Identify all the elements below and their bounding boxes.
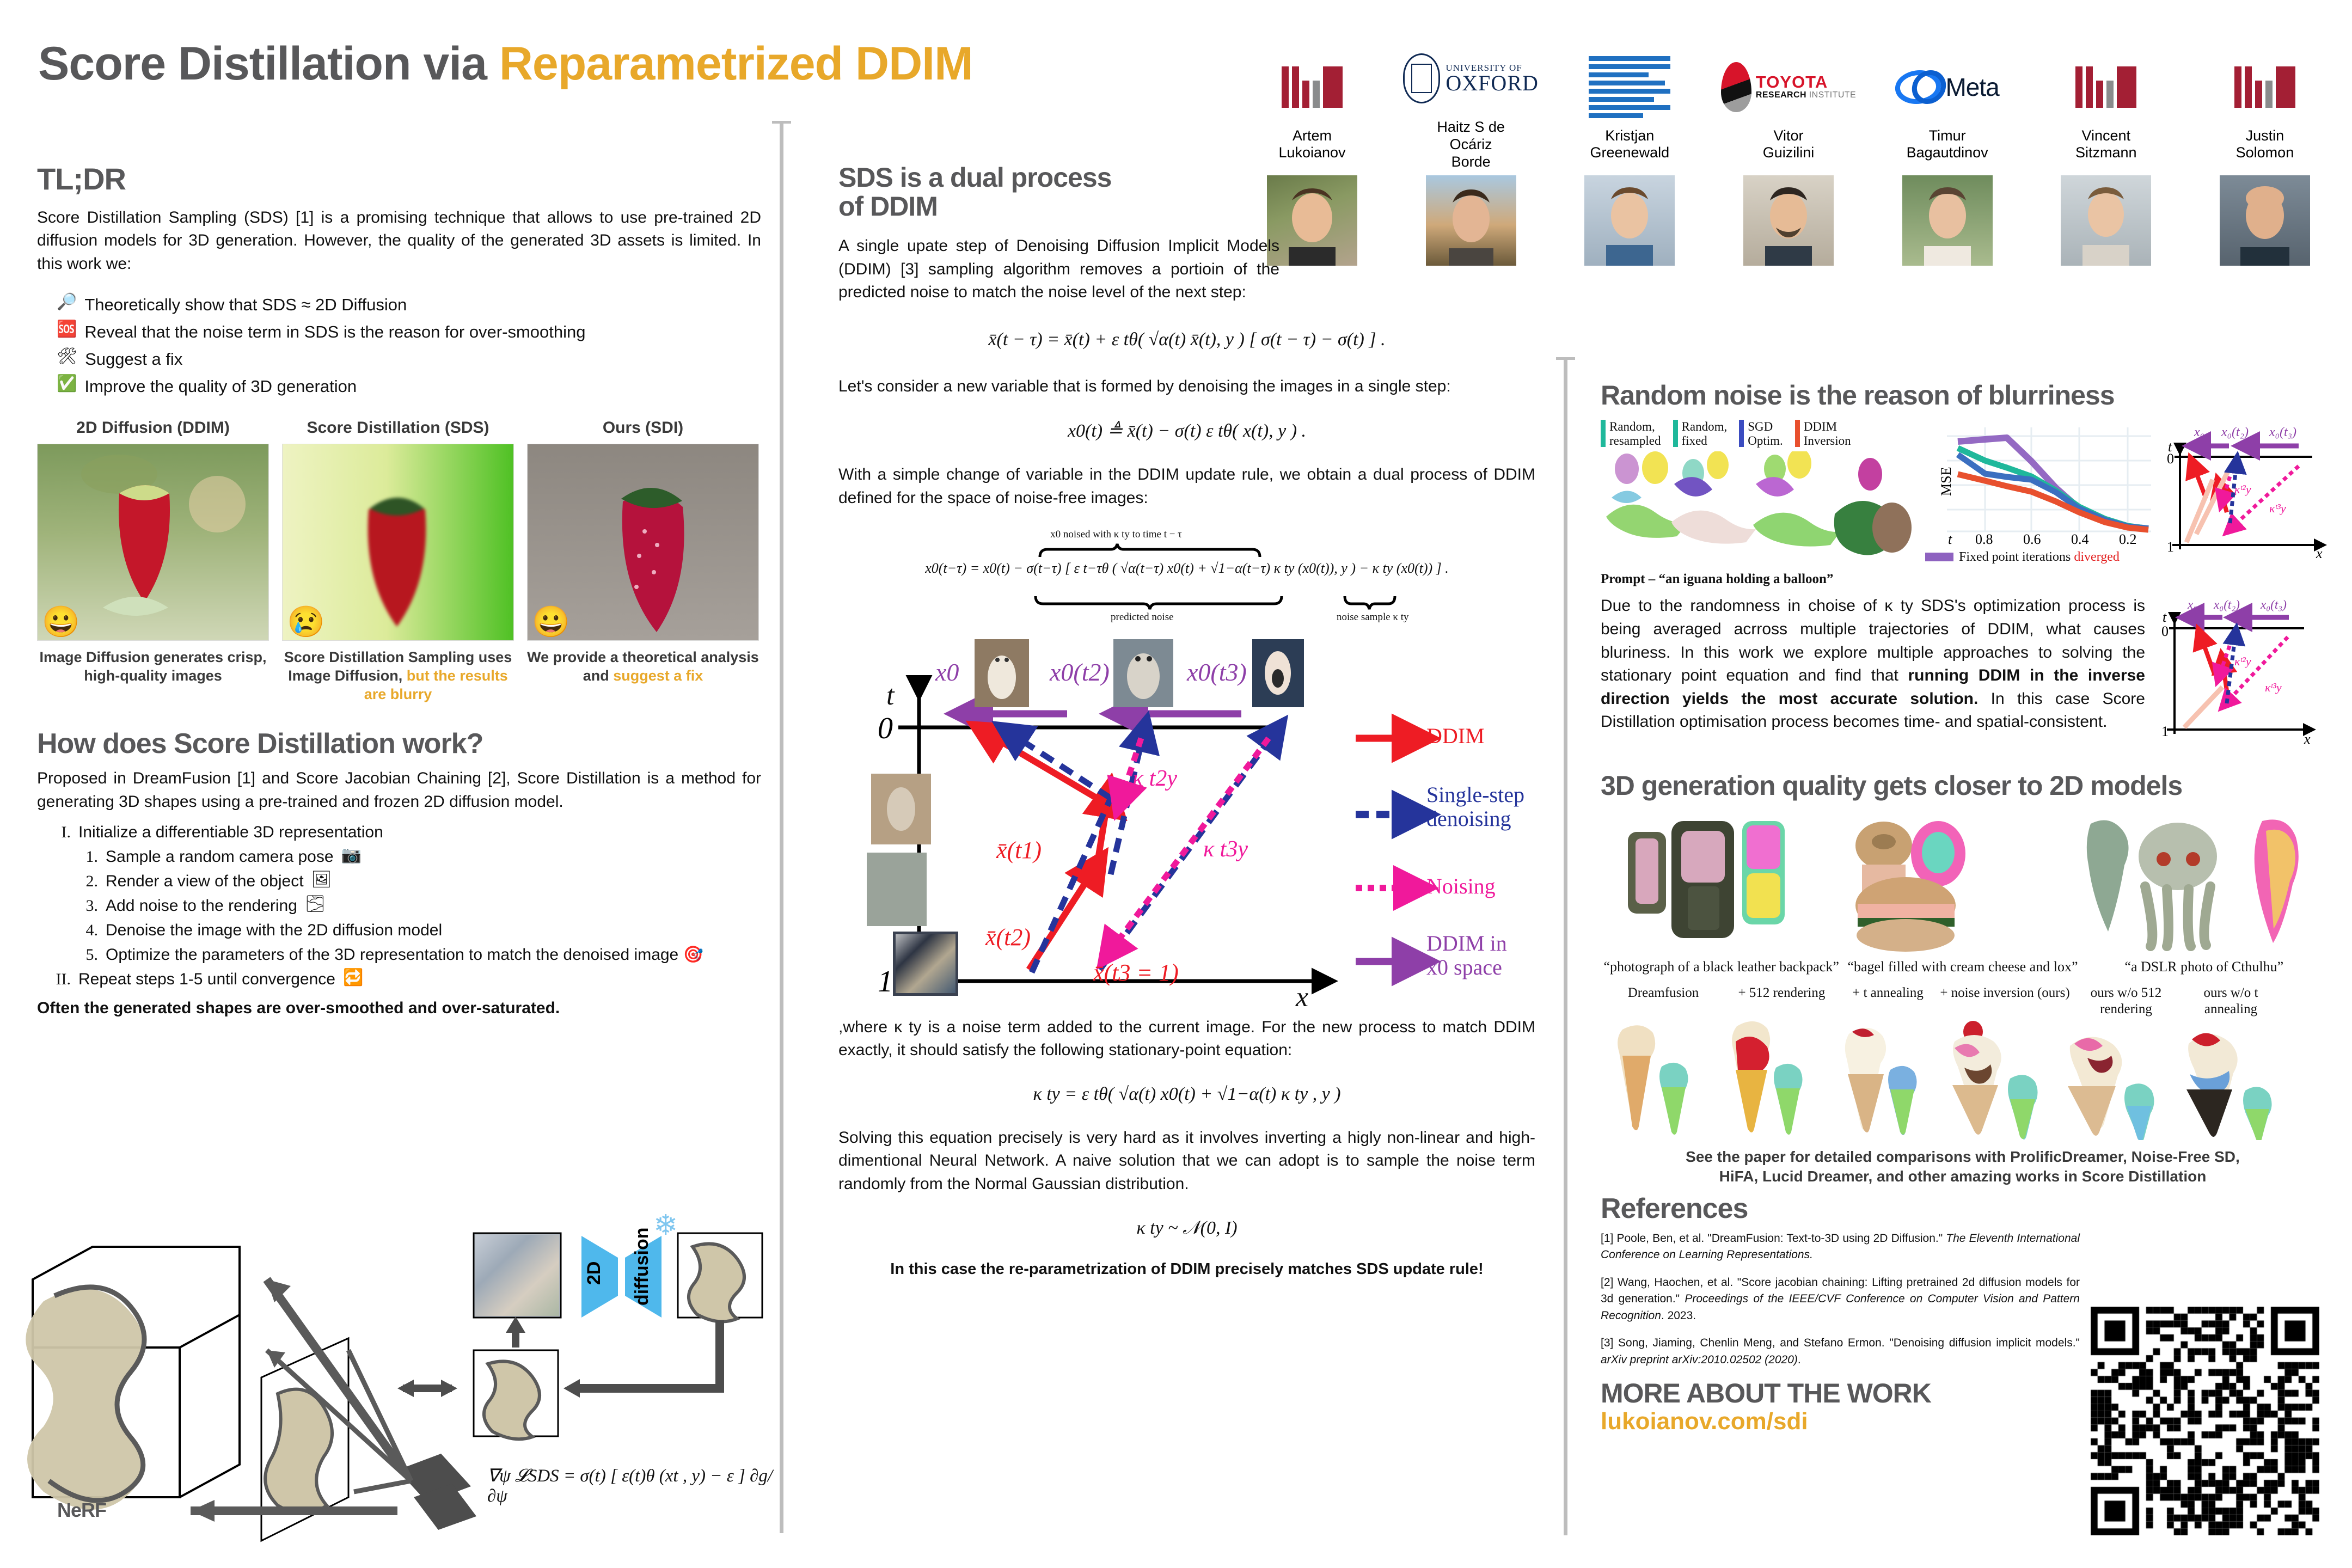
list-item: I.Initialize a differentiable 3D represe… <box>50 820 761 844</box>
nerf-diagram: 2D diffusion ❄ NeRF ∇ψ 𝓛SDS = σ(t) [ ε(t… <box>22 1214 773 1552</box>
picture-icon: 🖼 <box>311 869 332 893</box>
meta-infinity-icon <box>1894 70 1943 104</box>
oxford-logo: UNIVERSITY OF OXFORD <box>1403 49 1538 108</box>
list-item: 🛠Suggest a fix <box>37 346 761 373</box>
equation-stationary-point: κ ty = ε tθ( √α(t) x0(t) + √1−α(t) κ ty … <box>838 1084 1535 1105</box>
noise-heading: Random noise is the reason of blurriness <box>1601 381 2325 410</box>
svg-text:x₀: x₀ <box>2194 425 2204 439</box>
reference-item: [1] Poole, Ben, et al. "DreamFusion: Tex… <box>1601 1230 2080 1264</box>
svg-text:0.4: 0.4 <box>2071 531 2089 545</box>
tldr-paragraph: Score Distillation Sampling (SDS) [1] is… <box>37 206 761 276</box>
poster-canvas: Score Distillation via Reparametrized DD… <box>0 0 2352 1568</box>
equation-annotation-noise-sample: noise sample κ ty <box>1337 611 1409 623</box>
axis-label-x: x <box>1296 981 1308 1013</box>
author-cell-vitor-guizilini: TOYOTA RESEARCH INSTITUTE Vitor Guizilin… <box>1720 58 1857 266</box>
comparison-heading: 2D Diffusion (DDIM) <box>37 419 269 437</box>
mse-chart: MSE t 0.8 0.6 0.4 0.2 Fixed point iterat… <box>1925 420 2154 565</box>
legend-item: SGDOptim. <box>1739 420 1783 449</box>
list-item: 🔎Theoretically show that SDS ≈ 2D Diffus… <box>37 291 761 318</box>
mse-chart-legend: Fixed point iterations diverged <box>1925 550 2154 565</box>
comparison-figure: 2D Diffusion (DDIM) 😀 Image Diffusion ge… <box>37 419 761 703</box>
sds-gradient-equation: ∇ψ 𝓛SDS = σ(t) [ ε(t)θ (xt , y) − ε ] ∂g… <box>487 1465 773 1506</box>
iguana-prompt: Prompt – “an iguana holding a balloon” <box>1601 572 1916 587</box>
axis-label-t: t <box>886 679 894 712</box>
see-paper-note: See the paper for detailed comparisons w… <box>1601 1147 2325 1187</box>
svg-text:x₀: x₀ <box>2187 598 2197 611</box>
gen3d-caption: “photograph of a black leather backpack” <box>1601 958 1842 976</box>
mit-logo <box>1282 58 1343 117</box>
gen3d-caption: “bagel filled with cream cheese and lox” <box>1842 958 2083 976</box>
list-item: ✅Improve the quality of 3D generation <box>37 373 761 400</box>
svg-text:x₀(t₃): x₀(t₃) <box>2269 425 2296 439</box>
gen3d-caption: “a DSLR photo of Cthulhu” <box>2084 958 2325 976</box>
author-name: Justin Solomon <box>2236 127 2294 171</box>
repeat-icon: 🔁 <box>343 967 363 991</box>
equation-dual-process-block: x0 noised with κ ty to time t − τ x0(t−τ… <box>838 529 1535 629</box>
author-name: Vincent Sitzmann <box>2075 127 2137 171</box>
left-column: TL;DR Score Distillation Sampling (SDS) … <box>37 163 761 1018</box>
author-name: Timur Bagautdinov <box>1907 127 1988 171</box>
title-part-2: Reparametrized DDIM <box>499 38 973 90</box>
emoji-sad: 😢 <box>287 607 325 637</box>
how-steps-list: I.Initialize a differentiable 3D represe… <box>37 820 761 991</box>
equation-annotation-predicted-noise: predicted noise <box>1111 611 1174 623</box>
image-ours-sdi: 😀 <box>527 444 759 641</box>
gen3d-objects-image <box>1601 805 2325 952</box>
svg-text:1: 1 <box>878 965 893 999</box>
how-closing-note: Often the generated shapes are over-smoo… <box>37 999 761 1018</box>
ibm-logo <box>1589 58 1670 117</box>
noise-explanation-row: Due to the randomness in choise of κ ty … <box>1601 595 2325 750</box>
sds-paragraph-1: A single upate step of Denoising Diffusi… <box>838 235 1279 304</box>
svg-text:t: t <box>2163 609 2167 625</box>
svg-text:0.6: 0.6 <box>2023 531 2041 545</box>
ablation-headers: Dreamfusion + 512 rendering + t annealin… <box>1601 985 2325 1018</box>
list-item: 2.Render a view of the object🖼 <box>77 869 761 893</box>
block-2d-label: 2D <box>584 1261 604 1285</box>
mse-y-axis-label: MSE <box>1938 467 1954 495</box>
tldr-bullet-list: 🔎Theoretically show that SDS ≈ 2D Diffus… <box>37 291 761 401</box>
target-icon: 🎯 <box>683 946 703 964</box>
snowflake-icon: ❄ <box>653 1214 678 1241</box>
comparison-column-sds: Score Distillation (SDS) 😢 Score Distill… <box>282 419 514 703</box>
legend-item: Random,resampled <box>1601 420 1661 449</box>
svg-text:x₀(t₂): x₀(t₂) <box>2221 425 2249 439</box>
legend-item: DDIMInversion <box>1795 420 1851 449</box>
title-part-1: Score Distillation via <box>38 38 499 90</box>
list-item: 3.Add noise to the rendering🌫 <box>77 893 761 918</box>
equation-gaussian-sample: κ ty ~ 𝒩(0, I) <box>838 1218 1535 1239</box>
svg-text:x: x <box>2304 731 2311 747</box>
right-column: Random noise is the reason of blurriness… <box>1601 381 2325 1435</box>
page-title: Score Distillation via Reparametrized DD… <box>38 39 973 88</box>
image-2d-diffusion: 😀 <box>37 444 269 641</box>
equation-ddim-update: x̄(t − τ) = x̄(t) + ε tθ( √α(t) x̄(t), y… <box>838 329 1535 350</box>
svg-text:1: 1 <box>2161 724 2169 739</box>
legend-item: Random,fixed <box>1673 420 1728 449</box>
label-x0-t2: x0(t2) <box>1050 658 1110 687</box>
ablation-header: ours w/o 512 rendering <box>2072 985 2180 1018</box>
emoji-happy: 😀 <box>532 607 570 637</box>
label-xbar-t1: x̄(t1) <box>996 836 1042 864</box>
svg-text:x₀(t₃): x₀(t₃) <box>2260 598 2287 611</box>
legend-noising: Noising <box>1426 873 1496 899</box>
sds-paragraph-2: Let's consider a new variable that is fo… <box>838 375 1535 399</box>
mit-logo <box>2234 58 2295 117</box>
iguana-samples-image <box>1601 451 1916 566</box>
label-xbar-t2: x̄(t2) <box>985 923 1031 951</box>
list-item-label: Theoretically show that SDS ≈ 2D Diffusi… <box>84 291 407 318</box>
iguana-legend: Random,resampled Random,fixed SGDOptim. … <box>1601 420 1916 449</box>
svg-text:κᵗ²y: κᵗ²y <box>2234 654 2251 668</box>
how-heading: How does Score Distillation work? <box>37 729 761 759</box>
small-trajectory-diagram-bottom: t 0 1 x x₀ x₀(t₂) x₀(t₃) κᵗ²y κᵗ³y <box>2158 595 2322 750</box>
sds-paragraph-3: With a simple change of variable in the … <box>838 463 1535 510</box>
author-cell-timur-bagautdinov: Meta Timur Bagautdinov <box>1879 58 2016 266</box>
column-divider-left <box>780 123 783 1533</box>
avatar <box>1743 175 1834 266</box>
middle-column: SDS is a dual process of DDIM A single u… <box>838 163 1535 1278</box>
ablation-icecream-image <box>1601 1018 2325 1140</box>
qr-code[interactable] <box>2091 1307 2319 1535</box>
label-x0-t3: x0(t3) <box>1187 658 1247 687</box>
svg-text:t: t <box>1948 531 1952 545</box>
trajectory-diagram: 0 1 t x x0 x0(t2) x0(t3) x̄(t1) x̄(t2) x… <box>838 635 1535 1010</box>
mit-logo <box>2075 58 2136 117</box>
svg-text:x: x <box>2316 546 2323 561</box>
label-kappa-t3: κ t3y <box>1203 836 1248 862</box>
svg-text:κᵗ²y: κᵗ²y <box>2234 482 2251 496</box>
list-item-label: Reveal that the noise term in SDS is the… <box>84 318 585 346</box>
legend-ddim: DDIM <box>1426 723 1485 749</box>
camera-icon: 📷 <box>341 844 362 869</box>
sds-heading: SDS is a dual process of DDIM <box>838 163 1535 220</box>
label-x0: x0 <box>935 658 959 687</box>
ablation-header: + 512 rendering <box>1726 985 1837 1001</box>
ablation-header: + noise inversion (ours) <box>1938 985 2072 1001</box>
equation-x0-definition: x0(t) ≜ x̄(t) − σ(t) ε tθ( x(t), y ) . <box>838 420 1535 442</box>
comparison-caption: Image Diffusion generates crisp, high-qu… <box>37 648 269 685</box>
emoji-happy: 😀 <box>42 607 80 637</box>
label-xbar-t3: x̄(t3 = 1) <box>1093 959 1179 987</box>
sds-closing-note: In this case the re-parametrization of D… <box>838 1260 1535 1278</box>
comparison-heading: Score Distillation (SDS) <box>282 419 514 437</box>
meta-logo: Meta <box>1895 58 1999 117</box>
how-paragraph: Proposed in DreamFusion [1] and Score Ja… <box>37 767 761 813</box>
comparison-column-ddim: 2D Diffusion (DDIM) 😀 Image Diffusion ge… <box>37 419 269 703</box>
svg-text:1: 1 <box>2167 539 2174 555</box>
list-item-label: Improve the quality of 3D generation <box>84 373 357 400</box>
magnifier-icon: 🔎 <box>57 291 77 313</box>
tldr-heading: TL;DR <box>37 163 761 195</box>
gen3d-heading: 3D generation quality gets closer to 2D … <box>1601 771 2325 800</box>
svg-text:κᵗ³y: κᵗ³y <box>2265 681 2282 694</box>
author-cell-vincent-sitzmann: Vincent Sitzmann <box>2038 58 2174 266</box>
references-heading: References <box>1601 1194 2325 1224</box>
check-icon: ✅ <box>57 373 77 394</box>
noise-paragraph: Due to the randomness in choise of κ ty … <box>1601 595 2145 734</box>
avatar <box>2220 175 2310 266</box>
author-name: Kristjan Greenewald <box>1590 127 1670 171</box>
list-item: 4.Denoise the image with the 2D diffusio… <box>77 918 761 942</box>
references-list: [1] Poole, Ben, et al. "DreamFusion: Tex… <box>1601 1230 2080 1368</box>
oxford-crest-icon <box>1403 53 1440 103</box>
nerf-label: NeRF <box>57 1500 106 1521</box>
equation-dual-process: x0(t−τ) = x0(t) − σ(t−τ) [ ε t−τθ ( √α(t… <box>838 560 1535 577</box>
avatar <box>1902 175 1993 266</box>
toyota-research-institute-logo: TOYOTA RESEARCH INSTITUTE <box>1721 58 1856 117</box>
list-item: 5.Optimize the parameters of the 3D repr… <box>77 942 761 967</box>
equation-annotation-top: x0 noised with κ ty to time t − τ <box>947 529 1285 541</box>
small-trajectory-diagram-top: t 0 1 x x₀ x₀(t₂) x₀(t₃) κᵗ²y κᵗ³y <box>2163 420 2331 564</box>
svg-text:κᵗ³y: κᵗ³y <box>2269 501 2286 515</box>
svg-text:0: 0 <box>2161 623 2169 639</box>
sds-paragraph-5: Solving this equation precisely is very … <box>838 1126 1535 1196</box>
comparison-caption: We provide a theoretical analysis and su… <box>527 648 759 685</box>
legend-single-step-denoising: Single-step denoising <box>1426 783 1535 831</box>
column-divider-right <box>1564 359 1567 1535</box>
author-cell-justin-solomon: Justin Solomon <box>2197 58 2333 266</box>
svg-text:0.2: 0.2 <box>2119 531 2137 545</box>
label-kappa-t2: κ t2y <box>1132 765 1177 792</box>
svg-text:0: 0 <box>2167 451 2174 467</box>
tools-icon: 🛠 <box>57 346 77 367</box>
ablation-header: ours w/o t annealing <box>2180 985 2281 1018</box>
svg-text:x₀(t₂): x₀(t₂) <box>2213 598 2240 611</box>
comparison-caption: Score Distillation Sampling uses Image D… <box>282 648 514 703</box>
image-score-distillation: 😢 <box>282 444 514 641</box>
sds-paragraph-4: ,where κ ty is a noise term added to the… <box>838 1016 1535 1062</box>
noise-figure-row: Random,resampled Random,fixed SGDOptim. … <box>1601 420 2325 587</box>
block-diffusion-label: diffusion <box>632 1227 652 1306</box>
svg-text:0.8: 0.8 <box>1975 531 1993 545</box>
legend-ddim-in-x0-space: DDIM in x0 space <box>1426 932 1530 979</box>
ablation-header: + t annealing <box>1837 985 1938 1001</box>
comparison-heading: Ours (SDI) <box>527 419 759 437</box>
list-item: 🆘Reveal that the noise term in SDS is th… <box>37 318 761 346</box>
author-name: Vitor Guizilini <box>1763 127 1815 171</box>
noise-icon: 🌫 <box>305 893 326 918</box>
comparison-column-ours: Ours (SDI) 😀 We provide a theoretical an… <box>527 419 759 703</box>
alert-icon: 🆘 <box>57 318 77 340</box>
author-cell-kristjan-greenewald: Kristjan Greenewald <box>1561 58 1698 266</box>
list-item: II.Repeat steps 1-5 until convergence🔁 <box>50 967 761 991</box>
avatar <box>2061 175 2151 266</box>
list-item-label: Suggest a fix <box>85 346 182 373</box>
toyota-mark-icon <box>1721 62 1751 112</box>
gen3d-captions: “photograph of a black leather backpack”… <box>1601 958 2325 976</box>
iguana-panel: Random,resampled Random,fixed SGDOptim. … <box>1601 420 1916 587</box>
reference-item: [3] Song, Jiaming, Chenlin Meng, and Ste… <box>1601 1335 2080 1368</box>
svg-text:0: 0 <box>878 712 893 745</box>
list-item: 1.Sample a random camera pose📷 <box>77 844 761 869</box>
reference-item: [2] Wang, Haochen, et al. "Score jacobia… <box>1601 1275 2080 1324</box>
avatar <box>1584 175 1675 266</box>
ablation-header: Dreamfusion <box>1601 985 1726 1001</box>
